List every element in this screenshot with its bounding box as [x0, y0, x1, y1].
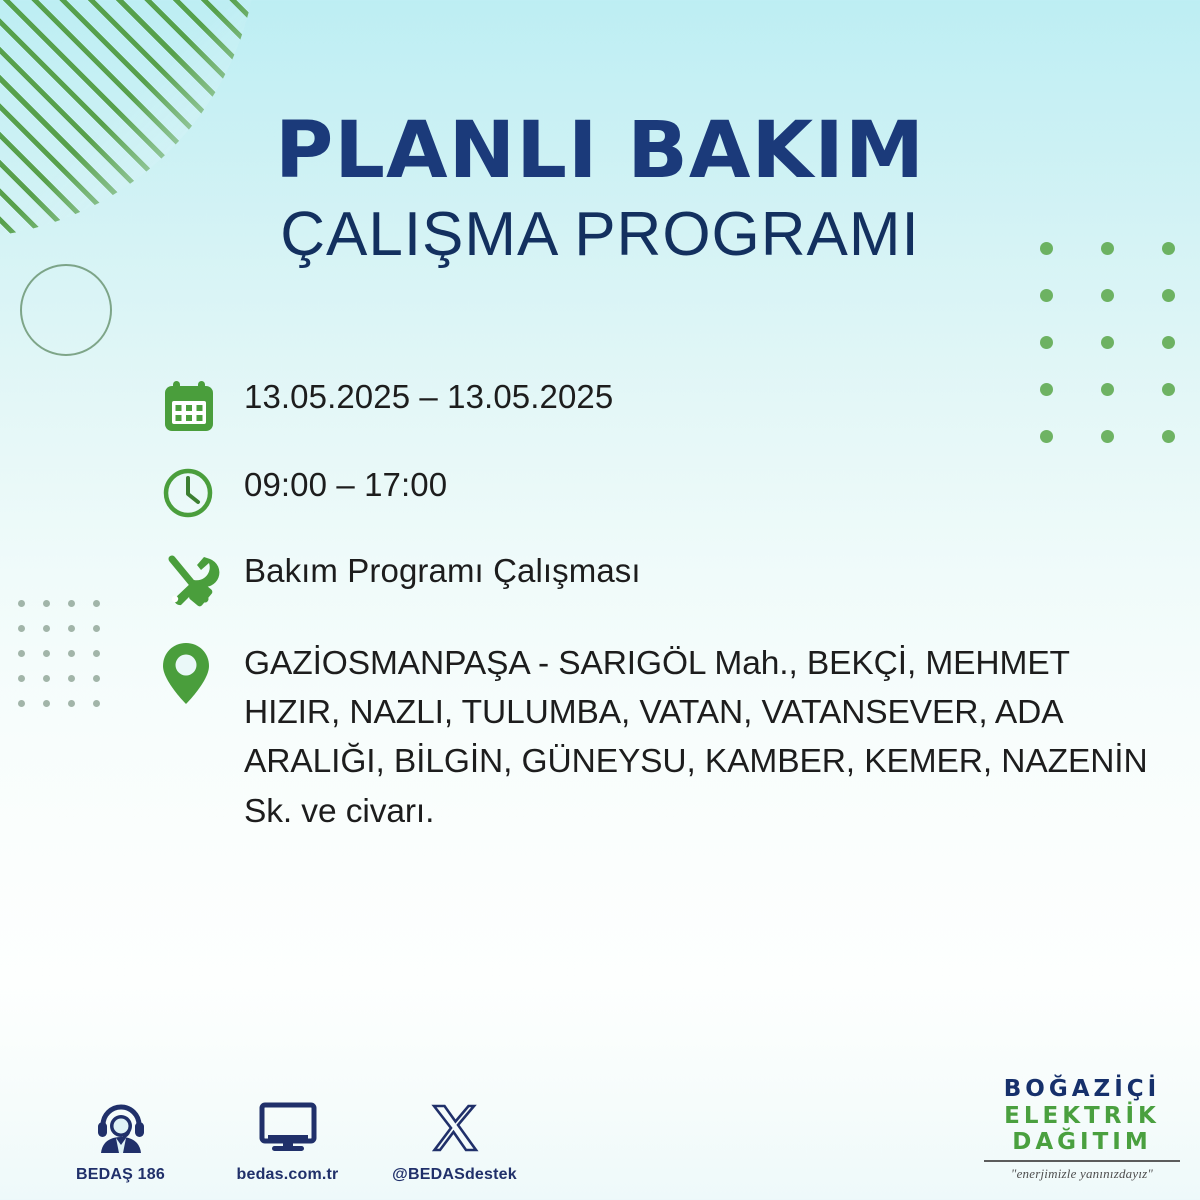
contact-phone[interactable]: BEDAŞ 186: [58, 1097, 183, 1184]
dot-grid-left-decoration: [18, 600, 118, 725]
calendar-icon: [160, 375, 244, 435]
monitor-icon: [225, 1097, 350, 1159]
tools-icon: [160, 549, 244, 609]
contact-phone-label: BEDAŞ 186: [58, 1166, 183, 1184]
poster-header: PLANLI BAKIM ÇALIŞMA PROGRAMI: [0, 112, 1200, 267]
time-range-text: 09:00 – 17:00: [244, 463, 447, 507]
brand-line-bogazici: BOĞAZİÇİ: [982, 1076, 1182, 1102]
contact-x-social[interactable]: @BEDASdestek: [392, 1097, 517, 1184]
maintenance-info-list: 13.05.2025 – 13.05.2025 09:00 – 17:00 Ba…: [160, 375, 1170, 858]
info-row-location: GAZİOSMANPAŞA - SARIGÖL Mah., BEKÇİ, MEH…: [160, 639, 1170, 836]
bedas-logo: BOĞAZİÇİ ELEKTRİK DAĞITIM "enerjimizle y…: [982, 1076, 1182, 1182]
brand-line-dagitim: DAĞITIM: [982, 1129, 1182, 1155]
info-row-time: 09:00 – 17:00: [160, 463, 1170, 521]
location-text: GAZİOSMANPAŞA - SARIGÖL Mah., BEKÇİ, MEH…: [244, 639, 1170, 836]
info-row-work-type: Bakım Programı Çalışması: [160, 549, 1170, 609]
contact-website-label: bedas.com.tr: [225, 1166, 350, 1184]
circle-outline-decoration: [20, 264, 112, 356]
work-type-text: Bakım Programı Çalışması: [244, 549, 641, 593]
x-logo-icon: [392, 1097, 517, 1159]
date-range-text: 13.05.2025 – 13.05.2025: [244, 375, 613, 419]
contact-website[interactable]: bedas.com.tr: [225, 1097, 350, 1184]
poster-footer: BEDAŞ 186 bedas.com.tr @BEDASdestek: [0, 1050, 1200, 1200]
support-headset-icon: [58, 1097, 183, 1159]
contact-x-label: @BEDASdestek: [392, 1166, 517, 1184]
page-subtitle: ÇALIŞMA PROGRAMI: [0, 202, 1200, 267]
location-pin-icon: [160, 639, 244, 707]
page-title: PLANLI BAKIM: [0, 112, 1200, 190]
brand-line-elektrik: ELEKTRİK: [982, 1103, 1182, 1129]
brand-divider: [984, 1160, 1180, 1162]
contact-list: BEDAŞ 186 bedas.com.tr @BEDASdestek: [58, 1097, 517, 1184]
info-row-date: 13.05.2025 – 13.05.2025: [160, 375, 1170, 435]
clock-icon: [160, 463, 244, 521]
brand-slogan: "enerjimizle yanınızdayız": [982, 1166, 1182, 1182]
